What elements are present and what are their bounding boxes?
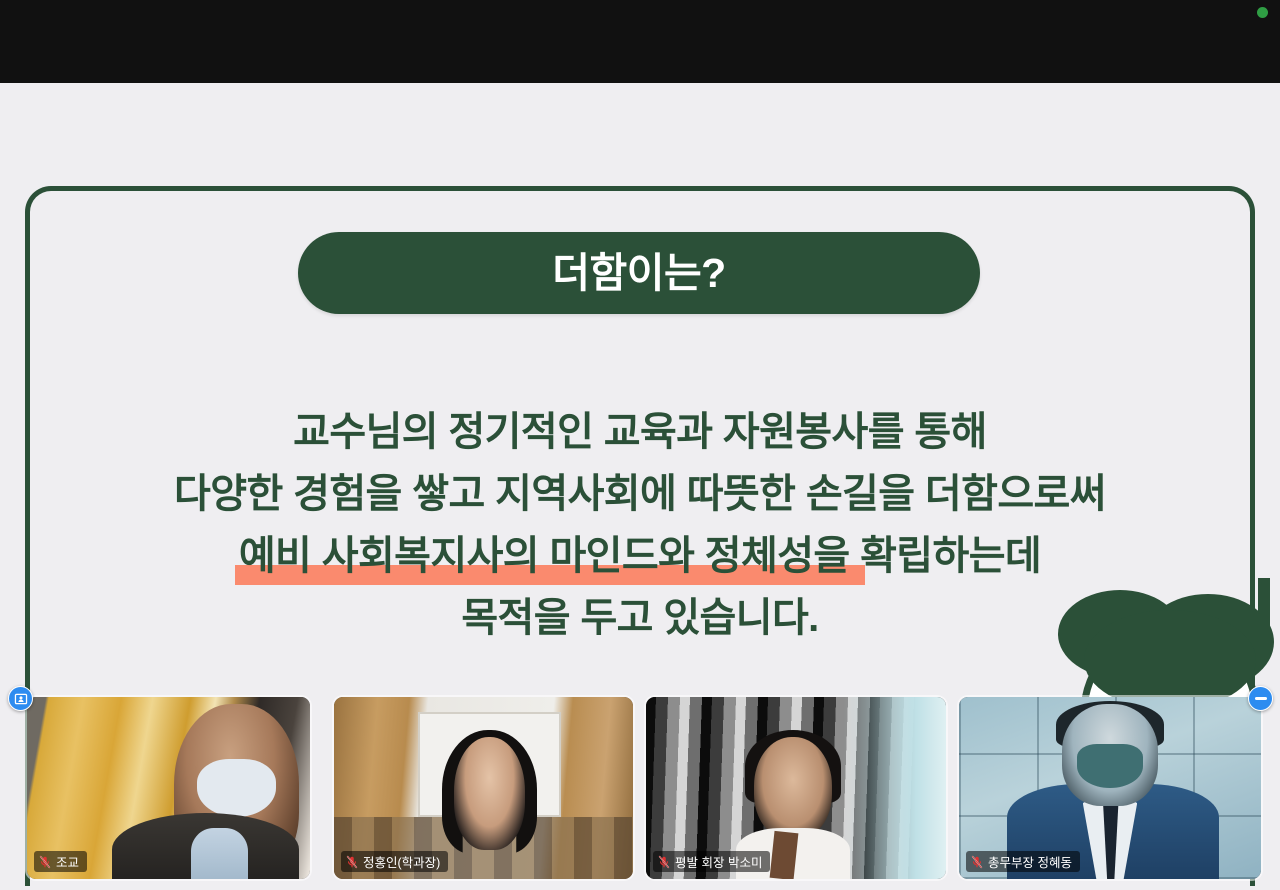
participant-name-2: 정홍인(학과장) — [363, 852, 440, 871]
highlighted-text-wrapper: 예비 사회복지사의 마인드와 정체성을 확립하는데 — [239, 525, 1041, 587]
slide-title: 더함이는? — [552, 253, 725, 294]
mic-muted-icon — [970, 855, 984, 869]
slide-body-line-1: 교수님의 정기적인 교육과 자원봉사를 통해 — [0, 401, 1280, 463]
participant-video-strip: 조교 정홍인(학과장) — [0, 690, 1280, 890]
minus-icon — [1255, 697, 1267, 700]
participants-panel-button[interactable] — [8, 686, 33, 711]
video-tile-2[interactable]: 정홍인(학과장) — [334, 697, 633, 879]
participant-name-3: 평발 회장 박소미 — [675, 852, 762, 871]
mic-muted-icon — [657, 855, 671, 869]
minimize-strip-button[interactable] — [1248, 686, 1273, 711]
participant-name-badge-4: 총무부장 정혜동 — [966, 851, 1080, 872]
mic-muted-icon — [345, 855, 359, 869]
video-tile-3[interactable]: 평발 회장 박소미 — [646, 697, 946, 879]
recording-indicator-dot — [1257, 7, 1268, 18]
slide-body-line-2: 다양한 경험을 쌓고 지역사회에 따뜻한 손길을 더함으로써 — [0, 463, 1280, 525]
mic-muted-icon — [38, 855, 52, 869]
video-tile-1[interactable]: 조교 — [27, 697, 310, 879]
slide-title-pill: 더함이는? — [298, 232, 980, 314]
participant-name-badge-2: 정홍인(학과장) — [341, 851, 448, 872]
meeting-window: 더함이는? 교수님의 정기적인 교육과 자원봉사를 통해 다양한 경험을 쌓고 … — [0, 0, 1280, 890]
participant-name-badge-3: 평발 회장 박소미 — [653, 851, 770, 872]
participant-name-1: 조교 — [56, 852, 79, 871]
participant-name-4: 총무부장 정혜동 — [988, 852, 1072, 871]
participants-icon — [14, 692, 28, 706]
video-tile-4[interactable]: 총무부장 정혜동 — [959, 697, 1261, 879]
participant-name-badge-1: 조교 — [34, 851, 87, 872]
window-topbar — [0, 0, 1280, 83]
